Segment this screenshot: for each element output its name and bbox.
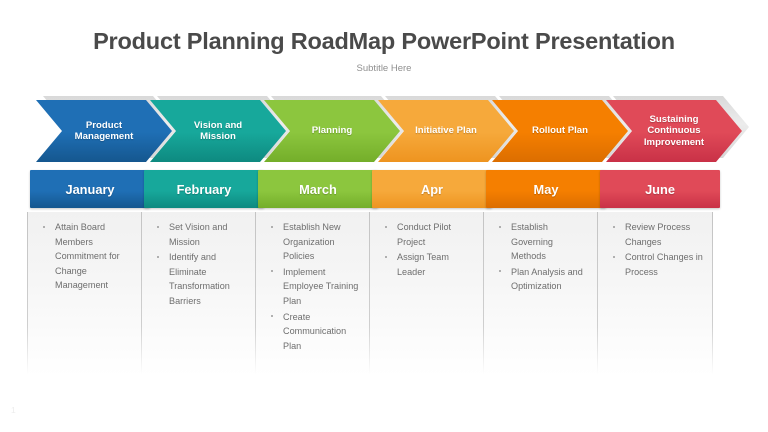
content-column: Conduct Pilot ProjectAssign Team Leader <box>370 212 484 376</box>
bullet-item: Set Vision and Mission <box>156 220 248 249</box>
bullet-item: Control Changes in Process <box>612 250 704 279</box>
bullet-text: Control Changes in Process <box>625 252 703 277</box>
bullet-dot-icon <box>499 226 501 228</box>
bullet-list: Conduct Pilot ProjectAssign Team Leader <box>384 220 476 280</box>
phase-arrow-label: Sustaining Continuous Improvement <box>606 100 742 162</box>
bullet-text: Assign Team Leader <box>397 252 449 277</box>
bullet-dot-icon <box>157 226 159 228</box>
bullet-item: Establish Governing Methods <box>498 220 590 264</box>
bullet-dot-icon <box>271 315 273 317</box>
page-number: 1 <box>11 405 16 415</box>
column-divider <box>597 212 598 375</box>
bullet-list: Review Process ChangesControl Changes in… <box>612 220 704 280</box>
bullet-item: Identify and Eliminate Transformation Ba… <box>156 250 248 308</box>
content-column: Set Vision and MissionIdentify and Elimi… <box>142 212 256 376</box>
month-header[interactable]: February <box>144 170 264 208</box>
content-columns-band: Attain Board Members Commitment for Chan… <box>0 212 768 380</box>
month-header[interactable]: March <box>258 170 378 208</box>
month-header-band: JanuaryFebruaryMarchAprMayJune <box>0 170 768 208</box>
page-title: Product Planning RoadMap PowerPoint Pres… <box>0 28 768 55</box>
bullet-dot-icon <box>385 226 387 228</box>
column-divider <box>255 212 256 375</box>
column-divider <box>712 212 713 375</box>
bullet-text: Conduct Pilot Project <box>397 222 451 247</box>
bullet-text: Identify and Eliminate Transformation Ba… <box>169 252 230 306</box>
content-column: Establish New Organization PoliciesImple… <box>256 212 370 376</box>
bullet-text: Set Vision and Mission <box>169 222 227 247</box>
bullet-text: Establish New Organization Policies <box>283 222 341 261</box>
bullet-text: Attain Board Members Commitment for Chan… <box>55 222 120 290</box>
bullet-item: Implement Employee Training Plan <box>270 265 362 309</box>
bullet-item: Create Communication Plan <box>270 310 362 354</box>
content-column: Establish Governing MethodsPlan Analysis… <box>484 212 598 376</box>
bullet-item: Attain Board Members Commitment for Chan… <box>42 220 134 293</box>
month-header[interactable]: June <box>600 170 720 208</box>
bullet-dot-icon <box>385 256 387 258</box>
month-header[interactable]: May <box>486 170 606 208</box>
column-divider <box>369 212 370 375</box>
slide-canvas: Product Planning RoadMap PowerPoint Pres… <box>0 0 768 432</box>
month-header[interactable]: Apr <box>372 170 492 208</box>
bullet-dot-icon <box>271 270 273 272</box>
bullet-dot-icon <box>613 226 615 228</box>
bullet-list: Set Vision and MissionIdentify and Elimi… <box>156 220 248 310</box>
bullet-dot-icon <box>157 256 159 258</box>
phase-arrow[interactable]: Sustaining Continuous Improvement <box>606 100 742 162</box>
bullet-list: Establish New Organization PoliciesImple… <box>270 220 362 354</box>
month-header[interactable]: January <box>30 170 150 208</box>
page-subtitle: Subtitle Here <box>0 63 768 74</box>
bullet-text: Plan Analysis and Optimization <box>511 267 583 292</box>
bullet-list: Establish Governing MethodsPlan Analysis… <box>498 220 590 295</box>
bullet-dot-icon <box>43 226 45 228</box>
content-column: Review Process ChangesControl Changes in… <box>598 212 712 376</box>
bullet-dot-icon <box>613 256 615 258</box>
column-divider <box>27 212 28 375</box>
bullet-text: Create Communication Plan <box>283 312 346 351</box>
bullet-text: Implement Employee Training Plan <box>283 267 358 306</box>
phase-arrow-band: Product ManagementVision and MissionPlan… <box>0 100 768 162</box>
bullet-item: Review Process Changes <box>612 220 704 249</box>
bullet-dot-icon <box>271 226 273 228</box>
column-divider <box>141 212 142 375</box>
content-column: Attain Board Members Commitment for Chan… <box>28 212 142 376</box>
bullet-text: Establish Governing Methods <box>511 222 553 261</box>
bullet-dot-icon <box>499 270 501 272</box>
bullet-text: Review Process Changes <box>625 222 690 247</box>
bullet-item: Assign Team Leader <box>384 250 476 279</box>
bullet-item: Establish New Organization Policies <box>270 220 362 264</box>
bullet-list: Attain Board Members Commitment for Chan… <box>42 220 134 294</box>
bullet-item: Plan Analysis and Optimization <box>498 265 590 294</box>
bullet-item: Conduct Pilot Project <box>384 220 476 249</box>
column-divider <box>483 212 484 375</box>
